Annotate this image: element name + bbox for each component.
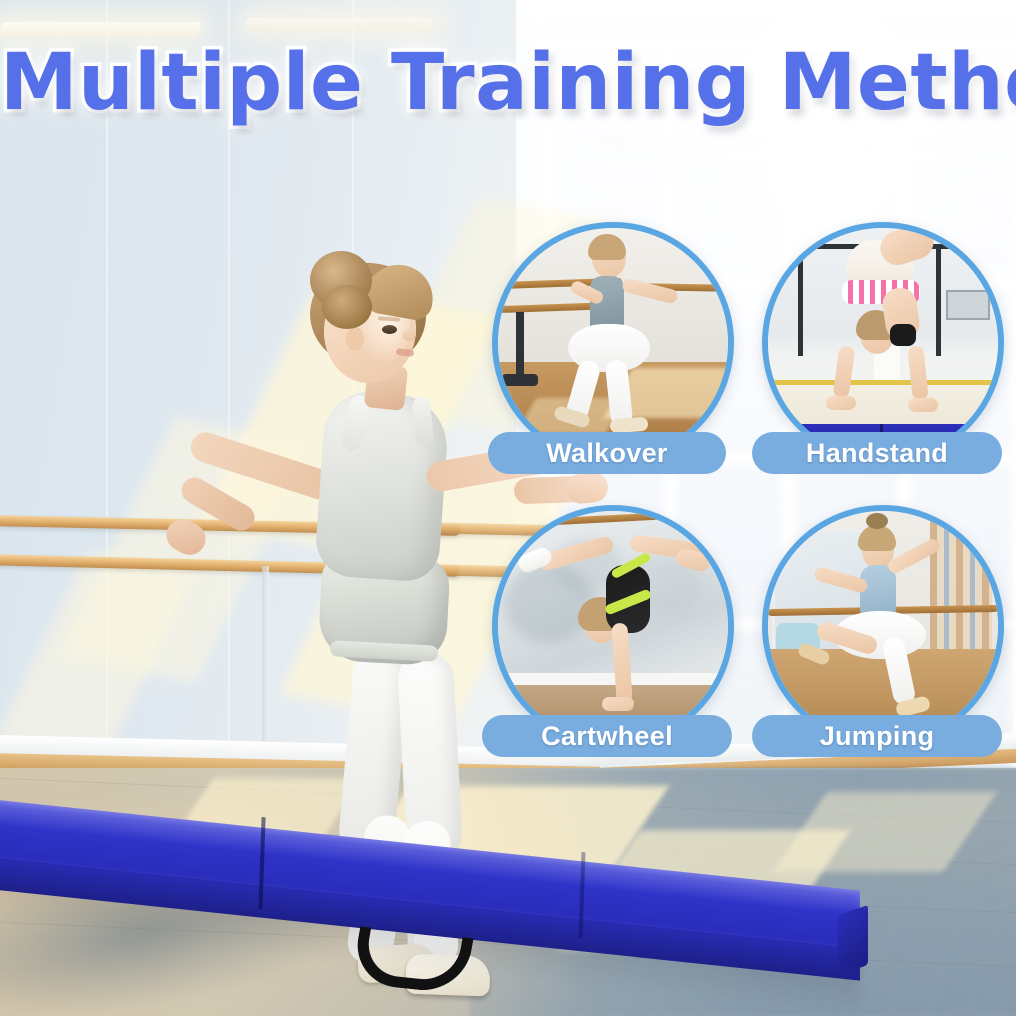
- feature-photo-cartwheel: [492, 505, 734, 747]
- scene-shorts: [890, 324, 916, 346]
- ceiling-light-strip: [0, 22, 202, 36]
- scene-post: [936, 244, 941, 356]
- scene-hand: [826, 396, 856, 410]
- page-title: Multiple Training Methods: [0, 38, 1016, 128]
- hair-bun-base: [322, 285, 372, 329]
- beam-end-cap: [838, 905, 868, 975]
- feature-photo-handstand: [762, 222, 1004, 464]
- feature-label-handstand: Handstand: [752, 432, 1002, 474]
- ceiling-light-strip: [245, 18, 434, 30]
- eye: [382, 325, 397, 334]
- ear: [346, 327, 364, 351]
- feature-photo-jumping: [762, 505, 1004, 747]
- feature-label-walkover: Walkover: [488, 432, 726, 474]
- scene-shoe: [610, 417, 649, 434]
- scene-hair-bun: [866, 513, 888, 529]
- balance-beam-product: [0, 760, 910, 1016]
- scene-post: [798, 244, 803, 356]
- feature-label-cartwheel: Cartwheel: [482, 715, 732, 757]
- scene-barre-base: [502, 374, 538, 386]
- scene-hand: [908, 398, 938, 412]
- nose: [402, 329, 416, 341]
- feature-label-jumping: Jumping: [752, 715, 1002, 757]
- scene-hand: [602, 697, 634, 711]
- beam-carry-handle: [350, 926, 473, 994]
- scene-baseboard: [498, 673, 728, 685]
- scene-wall-vent: [946, 290, 990, 320]
- scene-barre-post: [516, 312, 524, 380]
- product-marketing-image: Multiple Training Methods: [0, 0, 1016, 1016]
- feature-photo-walkover: [492, 222, 734, 464]
